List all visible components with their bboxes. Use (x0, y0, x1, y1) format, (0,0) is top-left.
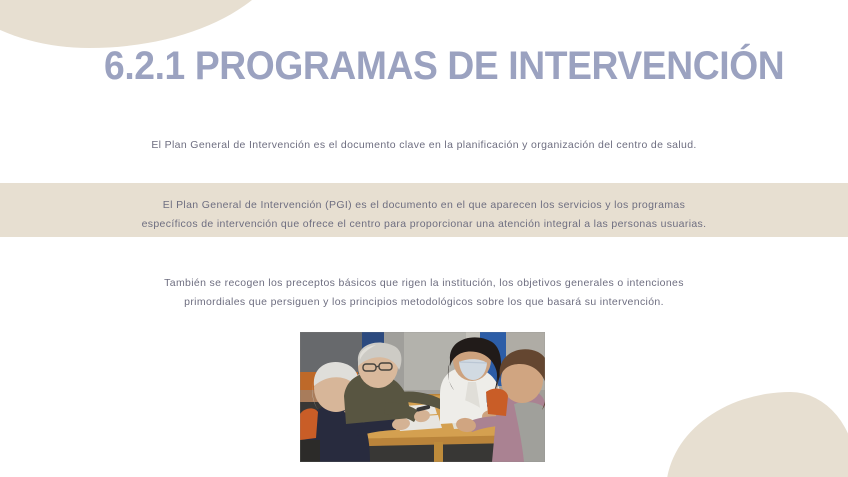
photo-illustration (300, 332, 545, 462)
highlight-band-line-1: El Plan General de Intervención (PGI) es… (0, 196, 848, 215)
body-paragraph-line-1: También se recogen los preceptos básicos… (0, 274, 848, 293)
decorative-blob-top-left (0, 0, 290, 48)
highlight-band-text: El Plan General de Intervención (PGI) es… (0, 196, 848, 234)
decorative-blob-bottom-right (666, 392, 848, 477)
slide: 6.2.1 PROGRAMAS DE INTERVENCIÓN El Plan … (0, 0, 848, 477)
highlight-band-line-2: específicos de intervención que ofrece e… (0, 215, 848, 234)
body-paragraph-line-2: primordiales que persiguen y los princip… (0, 293, 848, 312)
page-title: 6.2.1 PROGRAMAS DE INTERVENCIÓN (104, 42, 784, 90)
photo-elderly-group-session (300, 332, 545, 462)
body-paragraph: También se recogen los preceptos básicos… (0, 274, 848, 312)
intro-paragraph: El Plan General de Intervención es el do… (0, 136, 848, 155)
